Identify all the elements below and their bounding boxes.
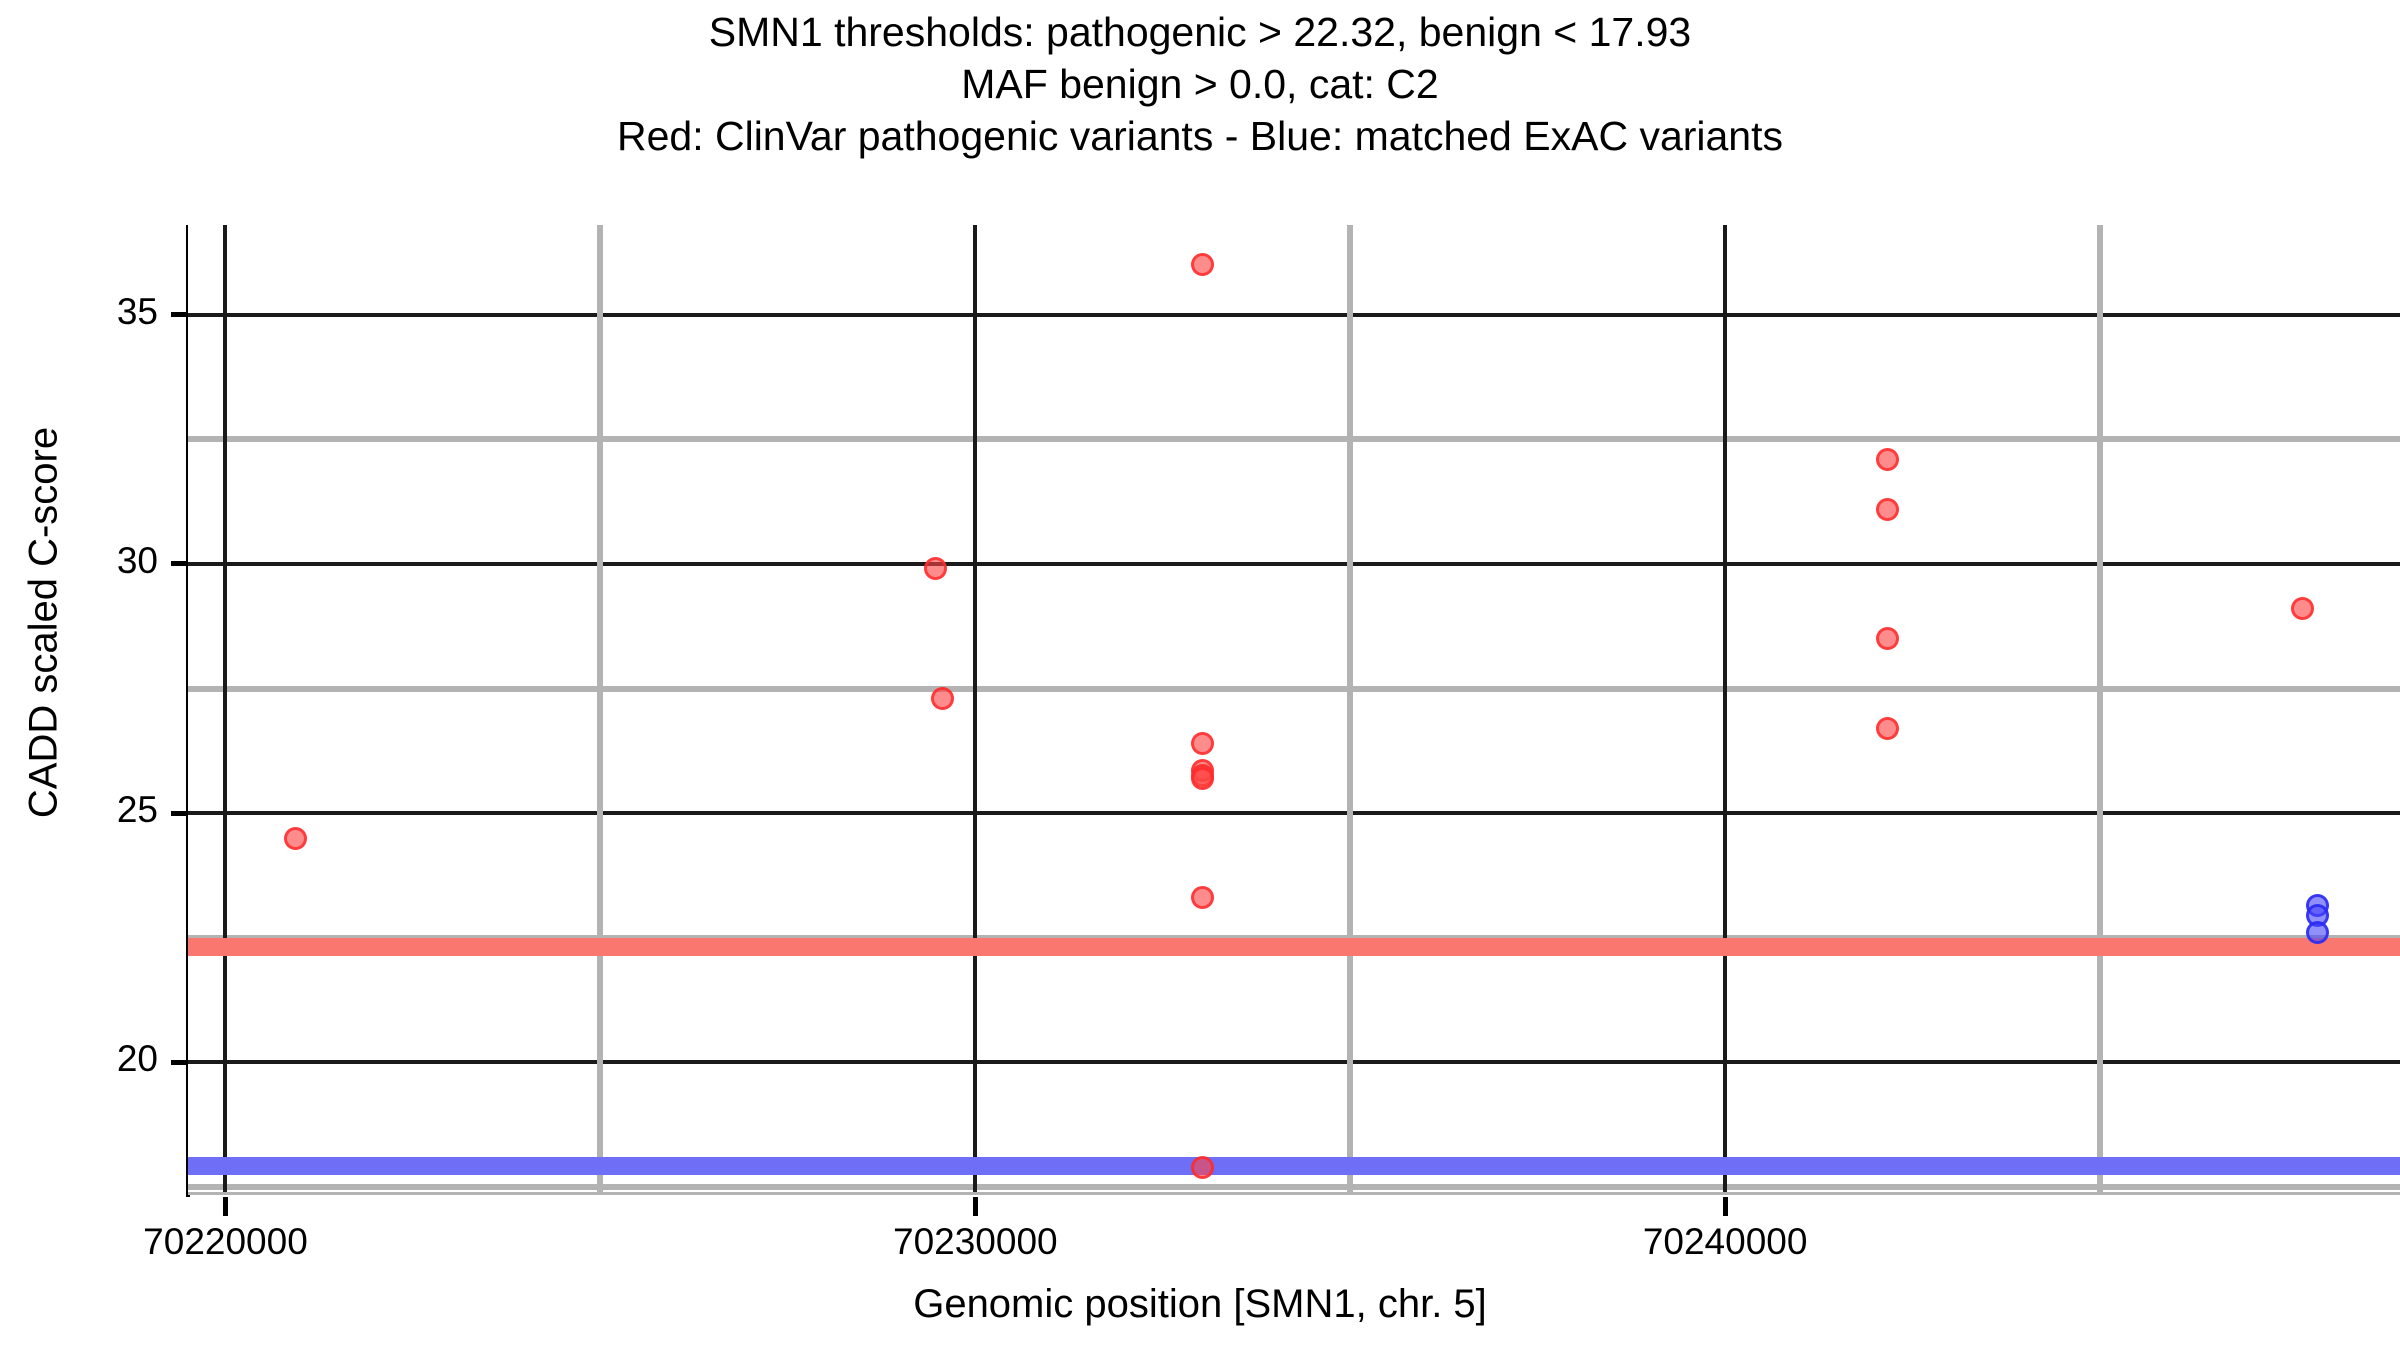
gridline-major-horizontal [188,1060,2400,1064]
gridline-major-horizontal [188,811,2400,815]
data-point-pathogenic [284,827,307,850]
x-tick-label: 70220000 [75,1221,375,1263]
gridline-major-vertical [1723,225,1727,1192]
y-tick-label: 20 [0,1038,158,1080]
data-point-pathogenic [1876,717,1899,740]
threshold-line-benign [188,1157,2400,1175]
data-point-pathogenic [1191,1156,1214,1179]
data-point-pathogenic [1191,732,1214,755]
data-point-pathogenic [1876,498,1899,521]
data-point-pathogenic [924,557,947,580]
gridline-minor-horizontal [188,686,2400,692]
chart-title-line-3: Red: ClinVar pathogenic variants - Blue:… [0,110,2400,162]
gridline-minor-vertical [1347,225,1353,1192]
y-tick-mark [171,1060,188,1065]
gridline-major-horizontal [188,562,2400,566]
x-tick-label: 70240000 [1575,1221,1875,1263]
plot-area [188,225,2400,1192]
data-point-pathogenic [1876,627,1899,650]
x-tick-mark [223,1197,228,1216]
chart-title-line-1: SMN1 thresholds: pathogenic > 22.32, ben… [0,6,2400,58]
x-tick-mark [1723,1197,1728,1216]
gridline-major-horizontal [188,313,2400,317]
chart-title-line-2: MAF benign > 0.0, cat: C2 [0,58,2400,110]
x-axis-label: Genomic position [SMN1, chr. 5] [0,1282,2400,1327]
y-tick-mark [171,811,188,816]
x-tick-mark [973,1197,978,1216]
data-point-pathogenic [2291,597,2314,620]
data-point-pathogenic [1191,253,1214,276]
data-point-pathogenic [1191,767,1214,790]
gridline-major-vertical [223,225,227,1192]
gridline-minor-horizontal [188,436,2400,442]
gridline-minor-vertical [2097,225,2103,1192]
scatter-plot-figure: SMN1 thresholds: pathogenic > 22.32, ben… [0,0,2400,1350]
chart-title: SMN1 thresholds: pathogenic > 22.32, ben… [0,6,2400,162]
y-tick-mark [171,312,188,317]
y-axis-label: CADD scaled C-score [22,223,67,1023]
threshold-line-pathogenic [188,938,2400,956]
data-point-pathogenic [931,687,954,710]
data-point-pathogenic [1191,886,1214,909]
gridline-minor-vertical [597,225,603,1192]
gridline-minor-horizontal [188,1184,2400,1190]
data-point-pathogenic [1876,448,1899,471]
y-tick-mark [171,561,188,566]
gridline-major-vertical [973,225,977,1192]
x-tick-label: 70230000 [825,1221,1125,1263]
